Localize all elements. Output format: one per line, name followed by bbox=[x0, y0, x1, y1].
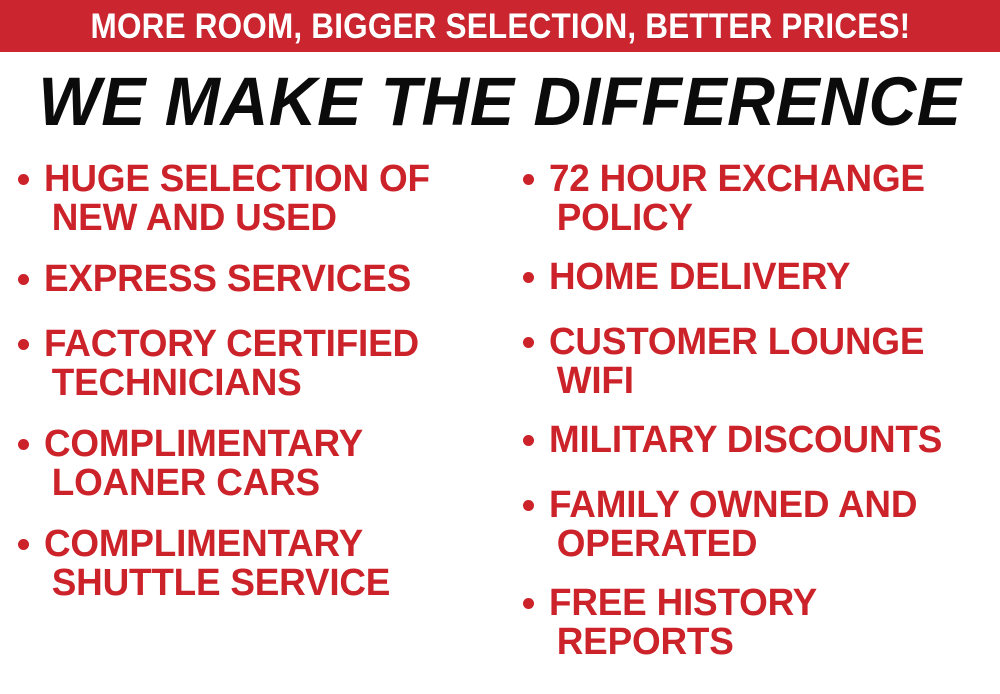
bullet-dot-icon bbox=[523, 272, 534, 283]
list-item-label: CUSTOMER LOUNGE WIFI bbox=[549, 323, 986, 401]
page-title: WE MAKE THE DIFFERENCE bbox=[38, 66, 961, 138]
bullet-dot-icon bbox=[18, 439, 29, 450]
benefits-column-right: 72 HOUR EXCHANGE POLICY HOME DELIVERY CU… bbox=[505, 160, 1000, 682]
promotional-banner: MORE ROOM, BIGGER SELECTION, BETTER PRIC… bbox=[0, 0, 1000, 694]
bullet-dot-icon bbox=[18, 174, 29, 185]
bullet-dot-icon bbox=[523, 598, 534, 609]
benefits-column-left: HUGE SELECTION OF NEW AND USED EXPRESS S… bbox=[0, 160, 505, 625]
headline-text: MORE ROOM, BIGGER SELECTION, BETTER PRIC… bbox=[90, 9, 910, 44]
bullet-dot-icon bbox=[18, 539, 29, 550]
list-item-label: FAMILY OWNED AND OPERATED bbox=[549, 486, 986, 564]
list-item: FACTORY CERTIFIED TECHNICIANS bbox=[18, 325, 499, 403]
list-item-label: MILITARY DISCOUNTS bbox=[549, 421, 942, 460]
list-item: COMPLIMENTARY SHUTTLE SERVICE bbox=[18, 525, 499, 603]
benefits-columns: HUGE SELECTION OF NEW AND USED EXPRESS S… bbox=[0, 160, 1000, 694]
headline-bar: MORE ROOM, BIGGER SELECTION, BETTER PRIC… bbox=[0, 0, 1000, 52]
list-item: EXPRESS SERVICES bbox=[18, 260, 499, 299]
list-item-label: COMPLIMENTARY SHUTTLE SERVICE bbox=[44, 525, 485, 603]
list-item-label: FACTORY CERTIFIED TECHNICIANS bbox=[44, 325, 485, 403]
list-item: COMPLIMENTARY LOANER CARS bbox=[18, 425, 499, 503]
bullet-dot-icon bbox=[18, 339, 29, 350]
list-item: HOME DELIVERY bbox=[523, 258, 1000, 297]
bullet-dot-icon bbox=[523, 435, 534, 446]
bullet-dot-icon bbox=[523, 500, 534, 511]
list-item: CUSTOMER LOUNGE WIFI bbox=[523, 323, 1000, 401]
list-item: 72 HOUR EXCHANGE POLICY bbox=[523, 160, 1000, 238]
bullet-dot-icon bbox=[523, 174, 534, 185]
list-item: MILITARY DISCOUNTS bbox=[523, 421, 1000, 460]
bullet-dot-icon bbox=[18, 274, 29, 285]
list-item: FREE HISTORY REPORTS bbox=[523, 584, 1000, 662]
list-item: FAMILY OWNED AND OPERATED bbox=[523, 486, 1000, 564]
list-item-label: EXPRESS SERVICES bbox=[44, 260, 411, 299]
title-container: WE MAKE THE DIFFERENCE bbox=[0, 60, 1000, 144]
list-item-label: FREE HISTORY REPORTS bbox=[549, 584, 986, 662]
list-item-label: HOME DELIVERY bbox=[549, 258, 850, 297]
list-item-label: COMPLIMENTARY LOANER CARS bbox=[44, 425, 485, 503]
list-item-label: HUGE SELECTION OF NEW AND USED bbox=[44, 160, 485, 238]
list-item-label: 72 HOUR EXCHANGE POLICY bbox=[549, 160, 986, 238]
list-item: HUGE SELECTION OF NEW AND USED bbox=[18, 160, 499, 238]
bullet-dot-icon bbox=[523, 337, 534, 348]
